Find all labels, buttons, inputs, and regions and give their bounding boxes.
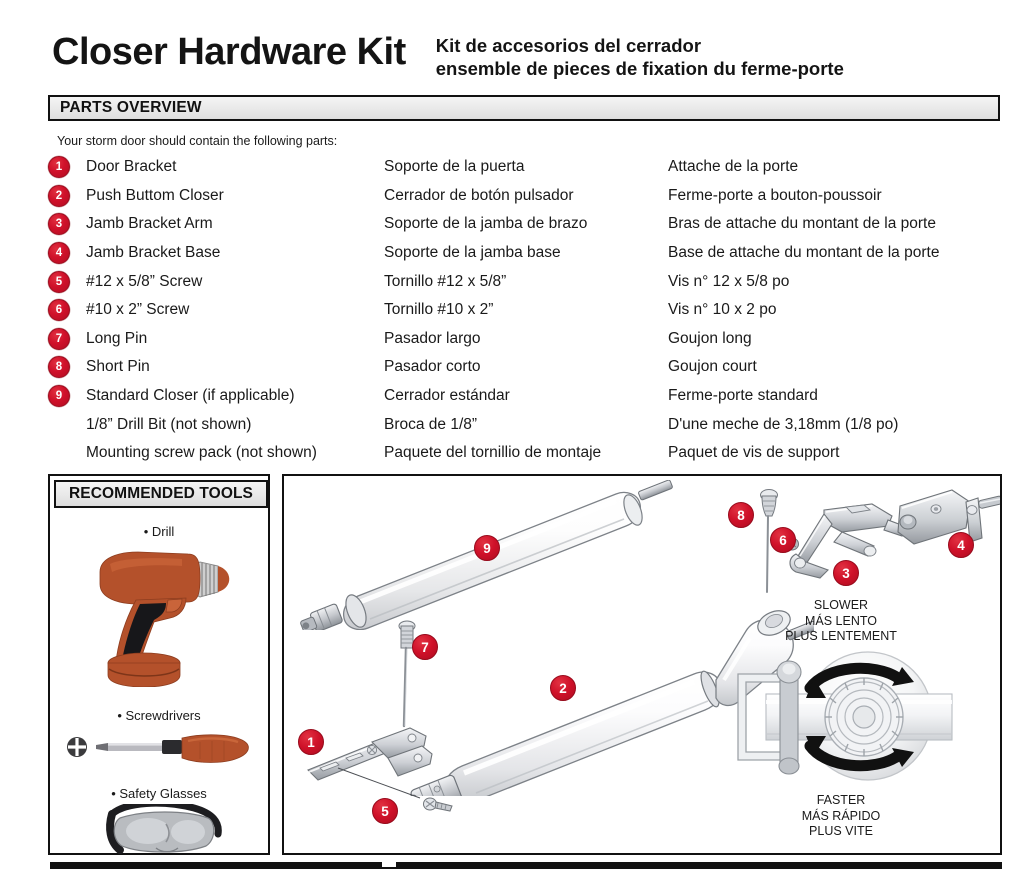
- part-name-spanish: Broca de 1/8”: [384, 416, 477, 434]
- part-name-english: Door Bracket: [86, 158, 176, 176]
- part-number-badge: 8: [48, 356, 70, 378]
- drill-icon: [82, 542, 242, 687]
- part-number-badge: [48, 414, 70, 436]
- part-name-english: #12 x 5/8” Screw: [86, 273, 202, 291]
- parts-row: 5 #12 x 5/8” Screw Tornillo #12 x 5/8” V…: [48, 267, 1003, 296]
- jamb-bracket-base-illustration: [892, 484, 1002, 564]
- part-name-english: Long Pin: [86, 330, 147, 348]
- callout-9-standard-closer: 9: [474, 535, 500, 561]
- part-name-english: Mounting screw pack (not shown): [86, 444, 317, 462]
- part-name-spanish: Cerrador estándar: [384, 387, 510, 405]
- parts-row: 6 #10 x 2” Screw Tornillo #10 x 2” Vis n…: [48, 296, 1003, 325]
- page-header: Closer Hardware Kit Kit de accesorios de…: [52, 30, 1002, 88]
- part-name-french: Goujon court: [668, 358, 757, 376]
- part-name-french: Ferme-porte standard: [668, 387, 818, 405]
- speed-adjustment-illustration: [722, 648, 954, 788]
- slower-label-french: PLUS LENTEMENT: [741, 629, 941, 645]
- part-number-badge: 6: [48, 299, 70, 321]
- parts-row: 9 Standard Closer (if applicable) Cerrad…: [48, 382, 1003, 411]
- parts-row: 7 Long Pin Pasador largo Goujon long: [48, 325, 1003, 354]
- part-name-spanish: Pasador largo: [384, 330, 481, 348]
- page-title-french: ensemble de pieces de fixation du ferme-…: [436, 57, 844, 80]
- part-name-english: Jamb Bracket Arm: [86, 215, 213, 233]
- part-name-french: D'une meche de 3,18mm (1/8 po): [668, 416, 898, 434]
- part-name-french: Vis n° 10 x 2 po: [668, 301, 776, 319]
- part-number-badge: 1: [48, 156, 70, 178]
- faster-label-group: FASTER MÁS RÁPIDO PLUS VITE: [741, 793, 941, 840]
- tool-label-screwdrivers: • Screwdrivers: [50, 708, 268, 723]
- parts-list: 1 Door Bracket Soporte de la puerta Atta…: [48, 153, 1003, 468]
- part-number-badge: 3: [48, 213, 70, 235]
- recommended-tools-label: RECOMMENDED TOOLS: [69, 485, 253, 503]
- part-name-english: Push Buttom Closer: [86, 187, 224, 205]
- part-name-french: Bras de attache du montant de la porte: [668, 215, 936, 233]
- parts-row: 3 Jamb Bracket Arm Soporte de la jamba d…: [48, 210, 1003, 239]
- parts-row: 4 Jamb Bracket Base Soporte de la jamba …: [48, 239, 1003, 268]
- callout-1-door-bracket: 1: [298, 729, 324, 755]
- part-name-english: Jamb Bracket Base: [86, 244, 220, 262]
- part-number-badge: 7: [48, 328, 70, 350]
- part-name-spanish: Tornillo #12 x 5/8”: [384, 273, 506, 291]
- part-name-spanish: Tornillo #10 x 2”: [384, 301, 493, 319]
- part-name-french: Vis n° 12 x 5/8 po: [668, 273, 789, 291]
- faster-label-french: PLUS VITE: [741, 824, 941, 840]
- title-translations: Kit de accesorios del cerrador ensemble …: [436, 34, 844, 80]
- slower-label-group: SLOWER MÁS LENTO PLUS LENTEMENT: [741, 598, 941, 645]
- part-name-english: Short Pin: [86, 358, 150, 376]
- part-number-badge: 4: [48, 242, 70, 264]
- footer-rule-notch: [382, 858, 396, 867]
- screwdriver-icon: [64, 728, 260, 768]
- slower-label-spanish: MÁS LENTO: [741, 614, 941, 630]
- callout-4-jamb-bracket-base: 4: [948, 532, 974, 558]
- manual-page: Closer Hardware Kit Kit de accesorios de…: [0, 0, 1024, 870]
- footer-rule: [50, 862, 1002, 869]
- parts-intro-text: Your storm door should contain the follo…: [57, 134, 337, 148]
- faster-label-spanish: MÁS RÁPIDO: [741, 809, 941, 825]
- safety-glasses-icon: [100, 804, 230, 860]
- parts-row: 8 Short Pin Pasador corto Goujon court: [48, 353, 1003, 382]
- part-name-spanish: Soporte de la jamba base: [384, 244, 561, 262]
- slower-label-english: SLOWER: [741, 598, 941, 614]
- part-name-spanish: Soporte de la puerta: [384, 158, 524, 176]
- recommended-tools-panel: RECOMMENDED TOOLS • Drill: [48, 474, 270, 855]
- part-number-badge: 5: [48, 271, 70, 293]
- part-number-badge: 2: [48, 185, 70, 207]
- parts-row: 1/8” Drill Bit (not shown) Broca de 1/8”…: [48, 410, 1003, 439]
- part-name-french: Goujon long: [668, 330, 752, 348]
- part-name-english: Standard Closer (if applicable): [86, 387, 295, 405]
- parts-row: 1 Door Bracket Soporte de la puerta Atta…: [48, 153, 1003, 182]
- page-title: Closer Hardware Kit: [52, 30, 406, 74]
- part-name-french: Base de attache du montant de la porte: [668, 244, 939, 262]
- parts-diagram-panel: 9: [282, 474, 1002, 855]
- part-number-badge: 9: [48, 385, 70, 407]
- part-name-english: #10 x 2” Screw: [86, 301, 189, 319]
- screw-12-illustration: [416, 792, 458, 822]
- tool-label-safety-glasses: • Safety Glasses: [50, 786, 268, 801]
- callout-2-push-button-closer: 2: [550, 675, 576, 701]
- page-title-spanish: Kit de accesorios del cerrador: [436, 34, 844, 57]
- part-name-english: 1/8” Drill Bit (not shown): [86, 416, 251, 434]
- part-name-spanish: Pasador corto: [384, 358, 481, 376]
- part-number-badge: [48, 442, 70, 464]
- callout-5-screw-12: 5: [372, 798, 398, 824]
- part-name-french: Attache de la porte: [668, 158, 798, 176]
- parts-row: Mounting screw pack (not shown) Paquete …: [48, 439, 1003, 468]
- parts-overview-label: PARTS OVERVIEW: [50, 99, 202, 117]
- parts-overview-banner: PARTS OVERVIEW: [48, 95, 1000, 121]
- tool-label-drill: • Drill: [50, 524, 268, 539]
- part-name-spanish: Soporte de la jamba de brazo: [384, 215, 587, 233]
- part-name-spanish: Paquete del tornillio de montaje: [384, 444, 601, 462]
- recommended-tools-header: RECOMMENDED TOOLS: [54, 480, 268, 508]
- callout-6-screw-10: 6: [770, 527, 796, 553]
- callout-3-jamb-bracket-arm: 3: [833, 560, 859, 586]
- callout-7-long-pin: 7: [412, 634, 438, 660]
- part-name-french: Paquet de vis de support: [668, 444, 839, 462]
- part-name-spanish: Cerrador de botón pulsador: [384, 187, 574, 205]
- parts-row: 2 Push Buttom Closer Cerrador de botón p…: [48, 182, 1003, 211]
- part-name-french: Ferme-porte a bouton-poussoir: [668, 187, 882, 205]
- faster-label-english: FASTER: [741, 793, 941, 809]
- callout-8-short-pin: 8: [728, 502, 754, 528]
